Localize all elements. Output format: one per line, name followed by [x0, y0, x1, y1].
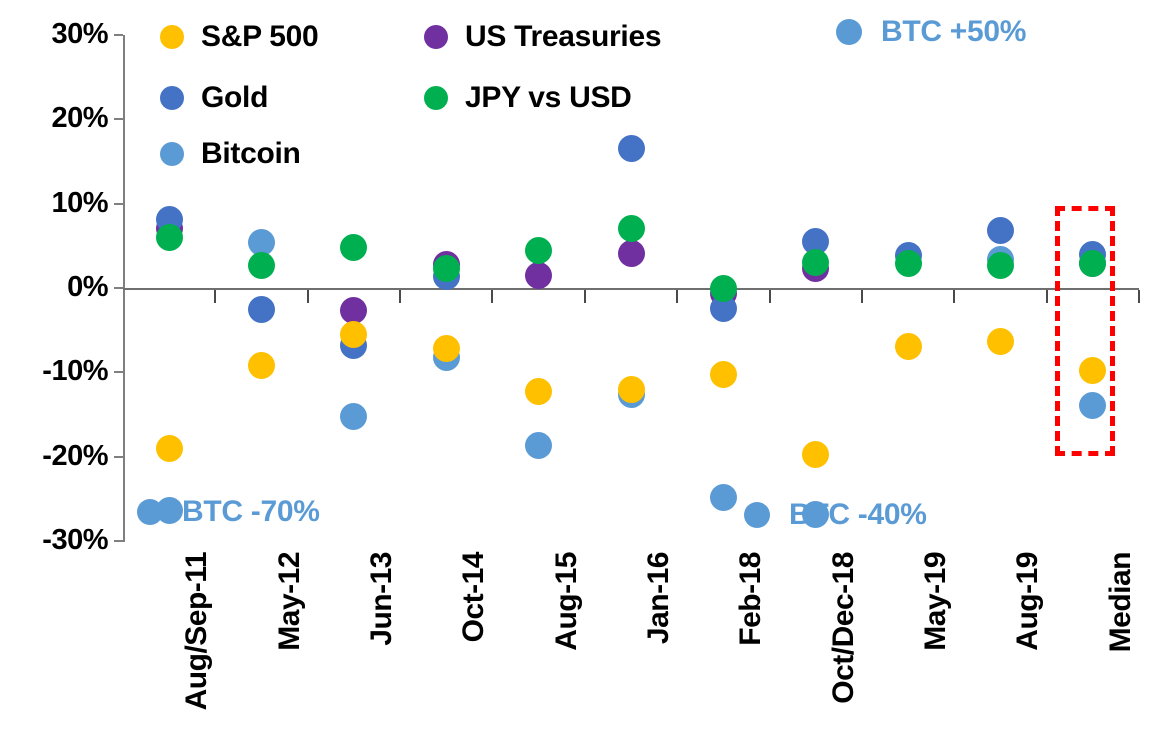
data-point-gold [618, 135, 645, 162]
x-axis-tick [676, 290, 678, 303]
x-axis-category-label: Median [1106, 552, 1136, 652]
data-point-jpy-vs-usd [340, 234, 367, 261]
legend-item-bitcoin[interactable]: Bitcoin [160, 139, 301, 169]
x-axis-tick [491, 290, 493, 303]
x-axis-category-label: Oct/Dec-18 [829, 552, 859, 704]
y-axis-tick-label: 30% [0, 20, 108, 49]
x-axis-tick [214, 290, 216, 303]
data-point-s-p-500 [525, 378, 552, 405]
y-axis-tick-label: -20% [0, 442, 108, 471]
legend-item-label: JPY vs USD [465, 83, 632, 113]
data-point-jpy-vs-usd [433, 255, 460, 282]
legend-item-jpy-vs-usd[interactable]: JPY vs USD [424, 83, 632, 113]
data-point-gold [987, 217, 1014, 244]
annotation-btc-plus-50-label: BTC +50% [881, 17, 1026, 47]
data-point-s-p-500 [156, 435, 183, 462]
x-axis-category-label: May-19 [921, 552, 951, 651]
legend-swatch-icon [424, 86, 448, 110]
data-point-s-p-500 [248, 352, 275, 379]
data-point-us-treasuries [618, 240, 645, 267]
data-point-s-p-500 [802, 441, 829, 468]
legend-swatch-icon [160, 142, 184, 166]
x-axis-tick [769, 290, 771, 303]
legend-item-label: S&P 500 [201, 22, 318, 52]
x-axis-category-label: Jan-16 [644, 552, 674, 644]
x-axis-category-label: Aug-19 [1013, 552, 1043, 651]
x-axis-zero-line [123, 288, 1139, 290]
bitcoin-dot-icon [137, 499, 163, 525]
annotation-btc-minus-40: BTC -40% [744, 500, 927, 530]
data-point-s-p-500 [895, 333, 922, 360]
x-axis-category-label: May-12 [275, 552, 305, 651]
data-point-jpy-vs-usd [987, 252, 1014, 279]
x-axis-category-label: Aug-15 [552, 552, 582, 651]
y-axis-tick [114, 203, 123, 205]
x-axis-tick [584, 290, 586, 303]
data-point-jpy-vs-usd [618, 215, 645, 242]
annotation-btc-minus-70: BTC -70% [137, 497, 320, 527]
data-point-jpy-vs-usd [895, 250, 922, 277]
x-axis-tick [399, 290, 401, 303]
x-axis-tick [1046, 290, 1048, 303]
data-point-jpy-vs-usd [525, 237, 552, 264]
data-point-s-p-500 [710, 361, 737, 388]
data-point-gold [248, 296, 275, 323]
y-axis-tick [114, 456, 123, 458]
data-point-jpy-vs-usd [156, 224, 183, 251]
x-axis-category-label: Aug/Sep-11 [182, 552, 212, 710]
legend-swatch-icon [160, 25, 184, 49]
bitcoin-dot-icon [836, 19, 862, 45]
legend-item-us-treasuries[interactable]: US Treasuries [424, 22, 661, 52]
x-axis-tick [953, 290, 955, 303]
data-point-jpy-vs-usd [710, 275, 737, 302]
y-axis-tick-label: -10% [0, 357, 108, 386]
y-axis-tick [114, 540, 123, 542]
median-highlight-box [1055, 206, 1115, 456]
y-axis-tick [114, 287, 123, 289]
x-axis-category-label: Jun-13 [367, 552, 397, 646]
bitcoin-dot-icon [744, 502, 770, 528]
x-axis-tick [861, 290, 863, 303]
y-axis-tick-label: 20% [0, 104, 108, 133]
legend-item-label: Gold [201, 83, 268, 113]
y-axis-tick-label: 10% [0, 189, 108, 218]
legend-item-gold[interactable]: Gold [160, 83, 268, 113]
data-point-bitcoin [340, 403, 367, 430]
scatter-chart: 30%20%10%0%-10%-20%-30% Aug/Sep-11May-12… [0, 0, 1151, 739]
annotation-btc-minus-40-label: BTC -40% [789, 500, 927, 530]
x-axis-tick [307, 290, 309, 303]
data-point-s-p-500 [618, 376, 645, 403]
data-point-us-treasuries [525, 262, 552, 289]
data-point-bitcoin [710, 484, 737, 511]
y-axis-tick-label: -30% [0, 526, 108, 555]
x-axis-tick [1138, 290, 1140, 303]
annotation-btc-plus-50: BTC +50% [836, 17, 1026, 47]
x-axis-category-label: Feb-18 [736, 552, 766, 646]
data-point-s-p-500 [987, 328, 1014, 355]
data-point-jpy-vs-usd [248, 252, 275, 279]
data-point-s-p-500 [433, 335, 460, 362]
legend-swatch-icon [160, 86, 184, 110]
y-axis-tick [114, 34, 123, 36]
x-axis-category-label: Oct-14 [459, 552, 489, 642]
legend-item-label: Bitcoin [201, 139, 301, 169]
legend-item-s-p-500[interactable]: S&P 500 [160, 22, 318, 52]
annotation-btc-minus-70-label: BTC -70% [182, 497, 320, 527]
legend-item-label: US Treasuries [465, 22, 661, 52]
data-point-bitcoin [525, 432, 552, 459]
y-axis-tick [114, 118, 123, 120]
y-axis-tick [114, 371, 123, 373]
y-axis-tick-label: 0% [0, 273, 108, 302]
legend-swatch-icon [424, 25, 448, 49]
